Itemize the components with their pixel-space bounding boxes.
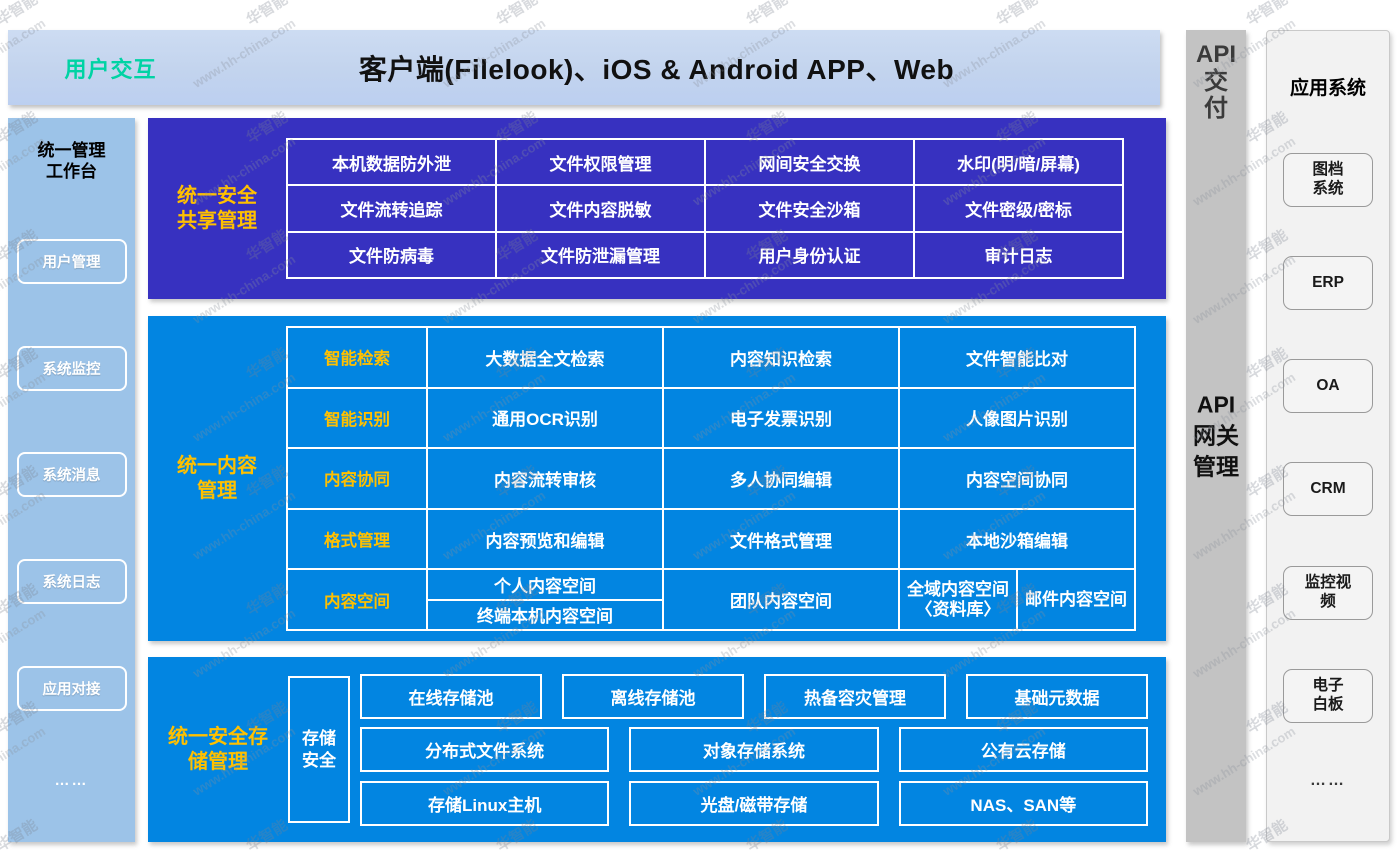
- api-gateway-line2: 网关: [1193, 420, 1239, 451]
- app-label-line2: 白板: [1312, 696, 1343, 715]
- content-space-personal-split: 个人内容空间 终端本机内容空间: [428, 570, 664, 631]
- api-column: API 交 付 API 网关 管理: [1186, 30, 1246, 842]
- security-cell[interactable]: 本机数据防外泄: [288, 140, 497, 186]
- storage-row: 存储Linux主机 光盘/磁带存储 NAS、SAN等: [360, 781, 1148, 826]
- content-space-global[interactable]: 全域内容空间 〈资料库〉: [900, 570, 1018, 629]
- storage-section: 统一安全存 储管理 存储 安全 在线存储池 离线存储池 热备容灾管理 基础元数据…: [148, 657, 1166, 842]
- app-panel-title: 应用系统: [1290, 73, 1366, 100]
- sidebar-item-system-monitoring[interactable]: 系统监控: [17, 346, 127, 391]
- sidebar-item-list: 用户管理 系统监控 系统消息 系统日志 应用对接 ……: [8, 183, 135, 843]
- content-cell[interactable]: 内容知识检索: [664, 328, 900, 389]
- security-label-line2: 共享管理: [148, 209, 286, 234]
- security-section: 统一安全 共享管理 本机数据防外泄 文件权限管理 网间安全交换 水印(明/暗/屏…: [148, 118, 1166, 299]
- storage-box[interactable]: 离线存储池: [562, 674, 744, 719]
- content-cell[interactable]: 大数据全文检索: [428, 328, 664, 389]
- storage-box[interactable]: 光盘/磁带存储: [629, 781, 878, 826]
- content-space-local-terminal[interactable]: 终端本机内容空间: [428, 601, 662, 629]
- api-gateway-line3: 管理: [1193, 452, 1239, 483]
- app-system-electronic-whiteboard[interactable]: 电子 白板: [1283, 669, 1373, 723]
- sidebar-title-line2: 工作台: [38, 161, 106, 182]
- sidebar-title: 统一管理 工作台: [38, 140, 106, 183]
- storage-section-label: 统一安全存 储管理: [148, 725, 288, 775]
- storage-box[interactable]: 对象存储系统: [629, 727, 878, 772]
- content-cell[interactable]: 文件格式管理: [664, 510, 900, 571]
- management-sidebar: 统一管理 工作台 用户管理 系统监控 系统消息 系统日志 应用对接 ……: [8, 118, 135, 842]
- security-cell[interactable]: 文件权限管理: [497, 140, 706, 186]
- sidebar-title-line1: 统一管理: [38, 140, 106, 161]
- security-cell[interactable]: 水印(明/暗/屏幕): [915, 140, 1124, 186]
- security-cell[interactable]: 文件内容脱敏: [497, 186, 706, 232]
- content-cell[interactable]: 电子发票识别: [664, 389, 900, 450]
- storage-safe-line2: 安全: [302, 750, 336, 771]
- content-space-personal[interactable]: 个人内容空间: [428, 570, 662, 600]
- sidebar-item-system-messages[interactable]: 系统消息: [17, 452, 127, 497]
- app-label-line1: 图档: [1312, 161, 1343, 180]
- app-label-line2: 系统: [1312, 180, 1343, 199]
- content-space-mail[interactable]: 邮件内容空间: [1018, 570, 1134, 629]
- content-cell[interactable]: 通用OCR识别: [428, 389, 664, 450]
- security-label-line1: 统一安全: [148, 184, 286, 209]
- sidebar-item-system-logs[interactable]: 系统日志: [17, 559, 127, 604]
- storage-box-rows: 在线存储池 离线存储池 热备容灾管理 基础元数据 分布式文件系统 对象存储系统 …: [360, 674, 1166, 826]
- security-feature-grid: 本机数据防外泄 文件权限管理 网间安全交换 水印(明/暗/屏幕) 文件流转追踪 …: [286, 138, 1124, 279]
- security-section-label: 统一安全 共享管理: [148, 184, 286, 234]
- sidebar-item-user-management[interactable]: 用户管理: [17, 239, 127, 284]
- architecture-diagram: 用户交互 客户端(Filelook)、iOS & Android APP、Web…: [0, 0, 1400, 851]
- app-system-list: 图档 系统 ERP OA CRM 监控视 频 电子 白板 ……: [1267, 100, 1389, 841]
- security-cell[interactable]: 审计日志: [915, 233, 1124, 279]
- storage-safe-line1: 存储: [302, 728, 336, 749]
- api-delivery-label: API 交 付: [1196, 42, 1236, 123]
- api-delivery-line3: 付: [1196, 96, 1236, 123]
- security-cell[interactable]: 网间安全交换: [706, 140, 915, 186]
- content-section: 统一内容 管理 智能检索 大数据全文检索 内容知识检索 文件智能比对 智能识别 …: [148, 316, 1166, 641]
- app-more-dots: ……: [1310, 772, 1346, 790]
- content-cell[interactable]: 内容流转审核: [428, 449, 664, 510]
- content-space-global-line2: 〈资料库〉: [916, 600, 1001, 620]
- content-row-key: 智能检索: [288, 328, 428, 389]
- security-cell[interactable]: 文件流转追踪: [288, 186, 497, 232]
- security-cell[interactable]: 文件密级/密标: [915, 186, 1124, 232]
- content-space-team[interactable]: 团队内容空间: [664, 570, 900, 631]
- app-system-oa[interactable]: OA: [1283, 359, 1373, 413]
- content-row-key: 格式管理: [288, 510, 428, 571]
- content-label-line1: 统一内容: [148, 454, 286, 479]
- api-gateway-line1: API: [1193, 389, 1239, 420]
- storage-row: 在线存储池 离线存储池 热备容灾管理 基础元数据: [360, 674, 1148, 719]
- app-label-line2: 频: [1305, 593, 1352, 612]
- app-label-line1: 电子: [1312, 677, 1343, 696]
- content-space-global-and-mail: 全域内容空间 〈资料库〉 邮件内容空间: [900, 570, 1136, 631]
- app-system-crm[interactable]: CRM: [1283, 462, 1373, 516]
- application-systems-panel: 应用系统 图档 系统 ERP OA CRM 监控视 频 电子 白板: [1266, 30, 1390, 842]
- storage-row: 分布式文件系统 对象存储系统 公有云存储: [360, 727, 1148, 772]
- app-system-erp[interactable]: ERP: [1283, 256, 1373, 310]
- app-system-surveillance-video[interactable]: 监控视 频: [1283, 566, 1373, 620]
- storage-box[interactable]: 热备容灾管理: [764, 674, 946, 719]
- storage-label-line2: 储管理: [148, 750, 288, 775]
- storage-box[interactable]: 分布式文件系统: [360, 727, 609, 772]
- content-cell[interactable]: 多人协同编辑: [664, 449, 900, 510]
- security-cell[interactable]: 用户身份认证: [706, 233, 915, 279]
- sidebar-more-dots: ……: [55, 772, 89, 789]
- storage-security-box[interactable]: 存储 安全: [288, 676, 350, 823]
- content-cell[interactable]: 人像图片识别: [900, 389, 1136, 450]
- storage-box[interactable]: 在线存储池: [360, 674, 542, 719]
- api-delivery-line2: 交: [1196, 69, 1236, 96]
- content-section-label: 统一内容 管理: [148, 454, 286, 504]
- content-label-line2: 管理: [148, 479, 286, 504]
- security-cell[interactable]: 文件防泄漏管理: [497, 233, 706, 279]
- content-cell[interactable]: 内容预览和编辑: [428, 510, 664, 571]
- api-gateway-label: API 网关 管理: [1193, 389, 1239, 482]
- content-cell[interactable]: 文件智能比对: [900, 328, 1136, 389]
- security-cell[interactable]: 文件防病毒: [288, 233, 497, 279]
- storage-box[interactable]: 存储Linux主机: [360, 781, 609, 826]
- api-delivery-line1: API: [1196, 42, 1236, 69]
- banner-title: 客户端(Filelook)、iOS & Android APP、Web: [213, 48, 1160, 88]
- sidebar-item-app-integration[interactable]: 应用对接: [17, 666, 127, 711]
- security-cell[interactable]: 文件安全沙箱: [706, 186, 915, 232]
- content-space-key: 内容空间: [288, 570, 428, 631]
- content-row-key: 内容协同: [288, 449, 428, 510]
- storage-box[interactable]: NAS、SAN等: [899, 781, 1148, 826]
- header-banner: 用户交互 客户端(Filelook)、iOS & Android APP、Web: [8, 30, 1160, 105]
- app-label-line1: 监控视: [1305, 574, 1352, 593]
- storage-label-line1: 统一安全存: [148, 725, 288, 750]
- storage-box[interactable]: 基础元数据: [966, 674, 1148, 719]
- content-row-key: 智能识别: [288, 389, 428, 450]
- app-system-document-archive[interactable]: 图档 系统: [1283, 153, 1373, 207]
- content-cell[interactable]: 本地沙箱编辑: [900, 510, 1136, 571]
- content-feature-grid: 智能检索 大数据全文检索 内容知识检索 文件智能比对 智能识别 通用OCR识别 …: [286, 326, 1136, 631]
- content-cell[interactable]: 内容空间协同: [900, 449, 1136, 510]
- storage-box[interactable]: 公有云存储: [899, 727, 1148, 772]
- content-space-global-line1: 全域内容空间: [907, 580, 1009, 600]
- banner-subtitle: 用户交互: [8, 52, 213, 84]
